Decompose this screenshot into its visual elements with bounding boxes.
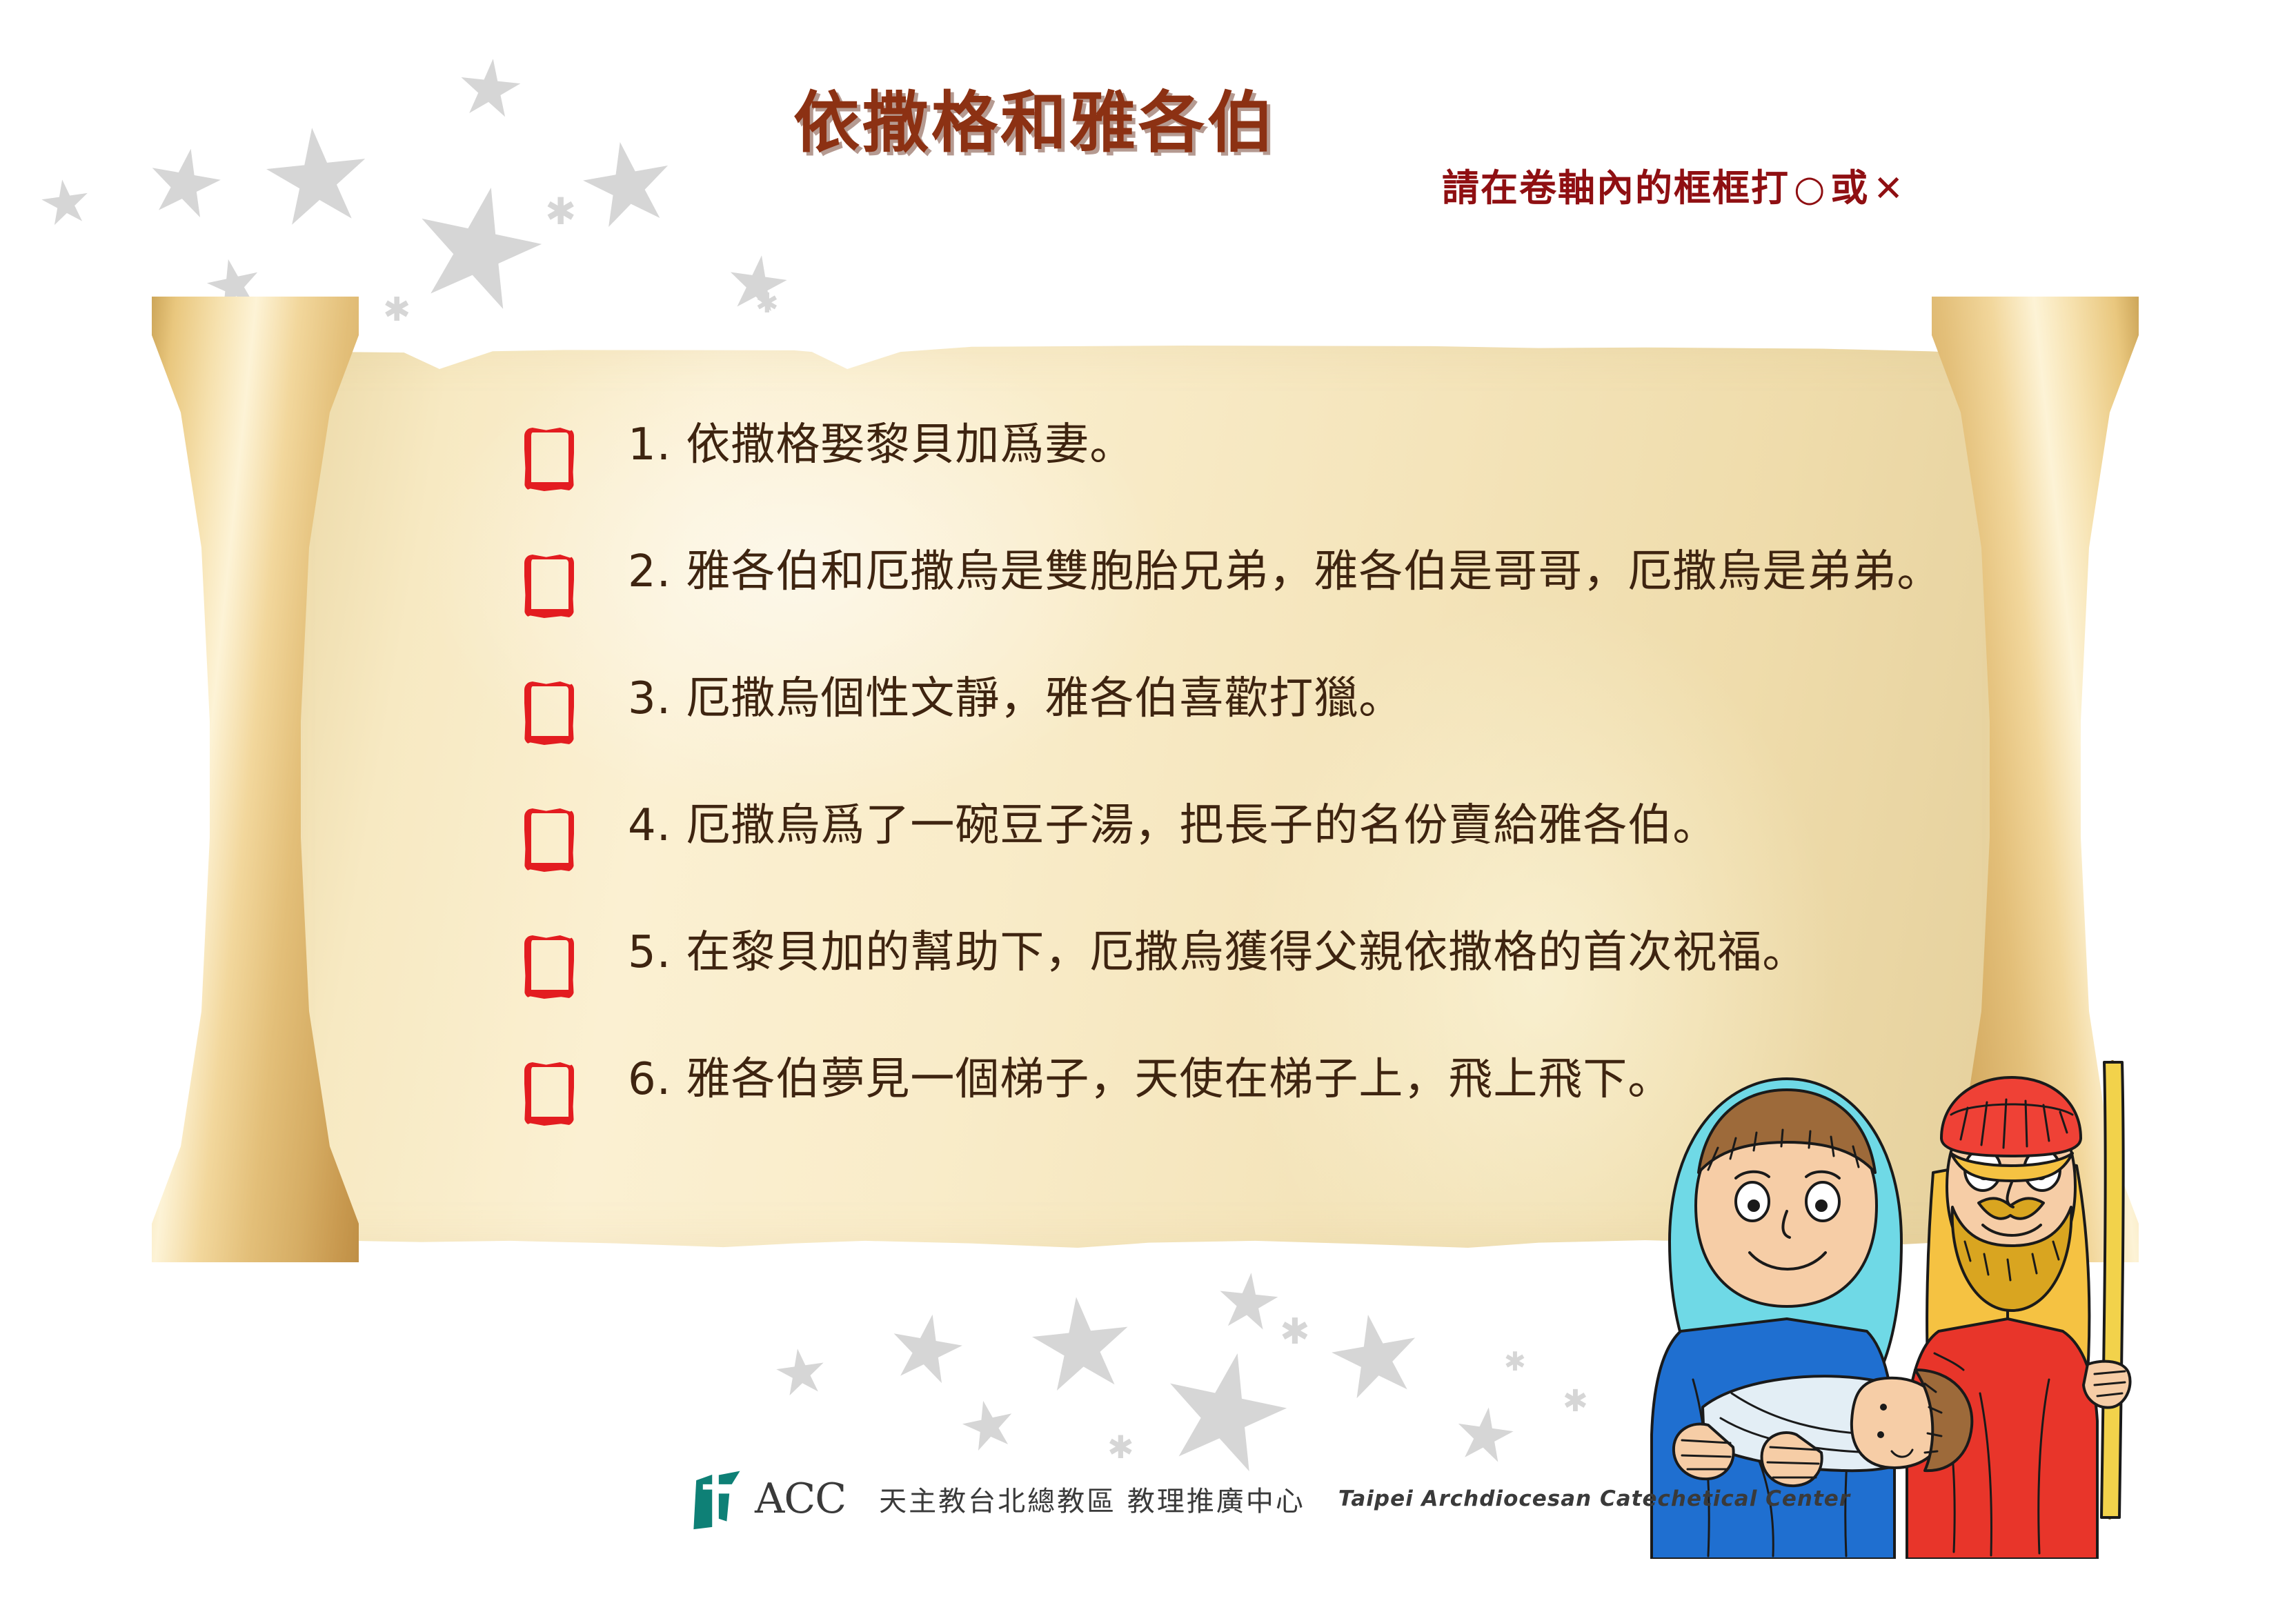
answer-checkbox-3[interactable]	[524, 681, 574, 745]
decorative-star	[884, 1308, 969, 1393]
decorative-sparkle-icon: ✱	[1280, 1314, 1310, 1350]
decorative-star	[1452, 1404, 1518, 1469]
cross-mark-icon: ✕	[1869, 168, 1909, 210]
decorative-star	[1215, 1270, 1282, 1337]
checklist-row: 2. 雅各伯和厄撒烏是雙胞胎兄弟，雅各伯是哥哥，厄撒烏是弟弟。	[524, 548, 2008, 675]
answer-checkbox-2[interactable]	[524, 555, 574, 618]
circle-mark-icon: ○	[1790, 168, 1830, 210]
statement-text-2: 2. 雅各伯和厄撒烏是雙胞胎兄弟，雅各伯是哥哥，厄撒烏是弟弟。	[628, 548, 1941, 596]
decorative-star	[143, 143, 227, 227]
checklist-row: 4. 厄撒烏爲了一碗豆子湯，把長子的名份賣給雅各伯。	[524, 801, 2008, 928]
decorative-sparkle-icon: ✱	[545, 193, 576, 230]
page-title: 依撒格和雅各伯	[793, 69, 1276, 165]
checklist-row: 3. 厄撒烏個性文靜，雅各伯喜歡打獵。	[524, 675, 2008, 801]
instruction-line: 請在卷軸內的框框打○或✕	[1442, 157, 1909, 212]
decorative-star	[38, 176, 92, 230]
decorative-star	[1325, 1307, 1427, 1409]
statement-text-4: 4. 厄撒烏爲了一碗豆子湯，把長子的名份賣給雅各伯。	[628, 801, 1717, 850]
decorative-star	[1027, 1292, 1136, 1402]
decorative-star	[261, 123, 375, 237]
statement-text-3: 3. 厄撒烏個性文靜，雅各伯喜歡打獵。	[628, 675, 1403, 723]
decorative-sparkle-icon: ✱	[1504, 1348, 1526, 1375]
organization-name-en: Taipei Archdiocesan Catechetical Center	[1338, 1486, 1850, 1511]
acc-logo-icon	[683, 1466, 749, 1532]
statement-text-5: 5. 在黎貝加的幫助下，厄撒烏獲得父親依撒格的首次祝福。	[628, 928, 1807, 977]
checklist-row: 1. 依撒格娶黎貝加爲妻。	[524, 421, 2008, 548]
answer-checkbox-5[interactable]	[524, 935, 574, 999]
statement-text-6: 6. 雅各伯夢見一個梯子，天使在梯子上，飛上飛下。	[628, 1055, 1672, 1104]
answer-checkbox-4[interactable]	[524, 808, 574, 872]
instruction-text: 請在卷軸內的框框打	[1442, 166, 1790, 210]
decorative-star	[773, 1345, 829, 1401]
acc-logo-text: ACC	[755, 1475, 846, 1523]
statement-text-1: 1. 依撒格娶黎貝加爲妻。	[628, 421, 1134, 469]
paper-torn-top-edge	[262, 337, 2035, 369]
decorative-star	[456, 56, 524, 124]
or-text: 或	[1830, 166, 1869, 210]
footer-branding: ACC 天主教台北總教區 教理推廣中心 Taipei Archdiocesan …	[683, 1466, 1850, 1532]
answer-checkbox-6[interactable]	[524, 1062, 574, 1126]
answer-checkbox-1[interactable]	[524, 428, 574, 491]
decorative-star	[576, 135, 680, 239]
organization-name-zh: 天主教台北總教區 教理推廣中心	[879, 1479, 1305, 1519]
decorative-sparkle-icon: ✱	[1563, 1386, 1588, 1417]
decorative-star	[958, 1395, 1020, 1457]
decorative-sparkle-icon: ✱	[1107, 1431, 1134, 1463]
